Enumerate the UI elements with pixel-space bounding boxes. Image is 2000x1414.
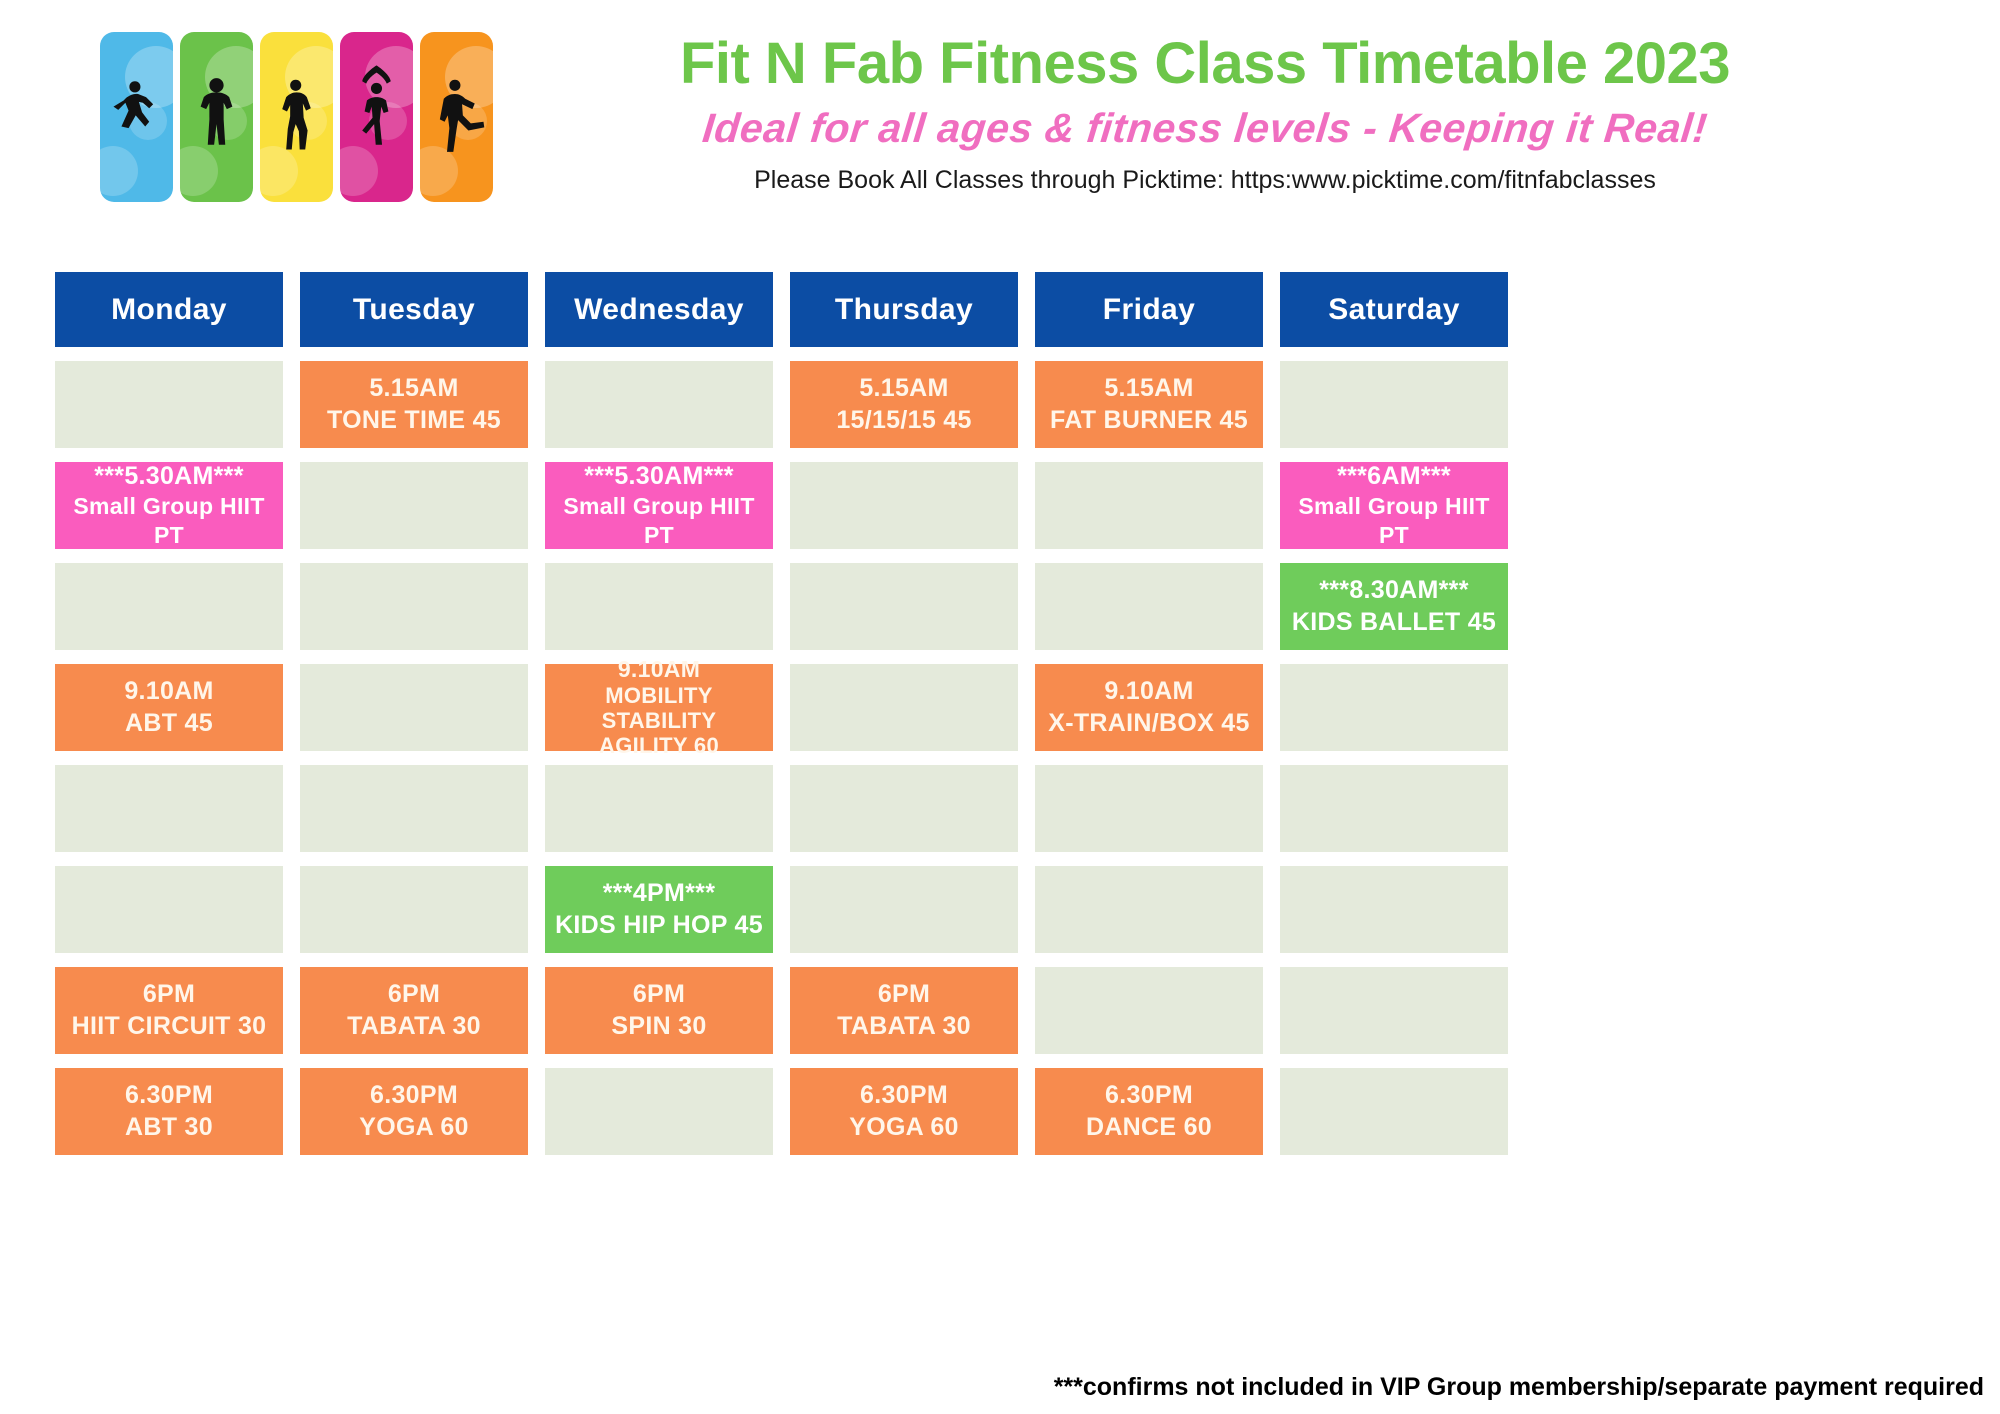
class-name: YOGA 60 [359,1112,469,1143]
class-name: TABATA 30 [347,1011,481,1042]
empty-slot-thursday [790,765,1018,852]
empty-slot-wednesday [545,765,773,852]
class-name: X-TRAIN/BOX 45 [1048,708,1249,739]
empty-slot-saturday [1280,664,1508,751]
class-time: 6.30PM [1105,1080,1193,1111]
day-header-wednesday[interactable]: Wednesday [545,272,773,347]
class-slot-thursday[interactable]: 5.15AM15/15/15 45 [790,361,1018,448]
empty-slot-wednesday [545,1068,773,1155]
class-name: Small Group HIIT PT [1280,492,1508,550]
class-name: SPIN 30 [611,1011,706,1042]
class-time: ***5.30AM*** [584,461,734,492]
class-slot-wednesday[interactable]: ***4PM***KIDS HIP HOP 45 [545,866,773,953]
empty-slot-friday [1035,765,1263,852]
yoga-tree-pose-woman-icon [340,32,413,202]
day-header-saturday[interactable]: Saturday [1280,272,1508,347]
runner-woman-icon [100,32,173,202]
empty-slot-friday [1035,866,1263,953]
class-slot-tuesday[interactable]: 5.15AMTONE TIME 45 [300,361,528,448]
class-slot-friday[interactable]: 5.15AMFAT BURNER 45 [1035,361,1263,448]
class-slot-monday[interactable]: 6PMHIIT CIRCUIT 30 [55,967,283,1054]
weightlifter-man-icon [180,32,253,202]
empty-slot-wednesday [545,361,773,448]
class-time: 5.15AM [859,373,948,404]
empty-slot-tuesday [300,866,528,953]
empty-slot-thursday [790,563,1018,650]
class-name: YOGA 60 [849,1112,959,1143]
timetable-row: 6PMHIIT CIRCUIT 306PMTABATA 306PMSPIN 30… [55,967,1945,1054]
class-slot-wednesday[interactable]: ***5.30AM***Small Group HIIT PT [545,462,773,549]
class-time: 6PM [143,979,195,1010]
day-header-thursday[interactable]: Thursday [790,272,1018,347]
empty-slot-tuesday [300,664,528,751]
page-subtitle: Ideal for all ages & fitness levels - Ke… [418,105,1993,152]
class-time: ***8.30AM*** [1319,575,1469,606]
class-name: FAT BURNER 45 [1050,405,1248,436]
timetable-row: ***8.30AM***KIDS BALLET 45 [55,563,1945,650]
empty-slot-saturday [1280,765,1508,852]
empty-slot-saturday [1280,866,1508,953]
class-slot-friday[interactable]: 9.10AMX-TRAIN/BOX 45 [1035,664,1263,751]
jogger-woman-icon [260,32,333,202]
class-slot-wednesday[interactable]: 6PMSPIN 30 [545,967,773,1054]
class-slot-friday[interactable]: 6.30PMDANCE 60 [1035,1068,1263,1155]
empty-slot-thursday [790,866,1018,953]
timetable-grid: MondayTuesdayWednesdayThursdayFridaySatu… [55,272,1945,1169]
class-name: KIDS HIP HOP 45 [555,910,763,941]
timetable-row: 6.30PMABT 306.30PMYOGA 606.30PMYOGA 606.… [55,1068,1945,1155]
day-header-friday[interactable]: Friday [1035,272,1263,347]
class-name: AGILITY 60 [599,733,719,758]
empty-slot-monday [55,866,283,953]
class-name: KIDS BALLET 45 [1292,607,1496,638]
class-name: ABT 45 [125,708,213,739]
timetable-row [55,765,1945,852]
empty-slot-monday [55,563,283,650]
class-slot-tuesday[interactable]: 6PMTABATA 30 [300,967,528,1054]
empty-slot-friday [1035,967,1263,1054]
class-name: Small Group HIIT PT [55,492,283,550]
empty-slot-saturday [1280,967,1508,1054]
timetable-row: ***5.30AM***Small Group HIIT PT***5.30AM… [55,462,1945,549]
class-name: HIIT CIRCUIT 30 [72,1011,267,1042]
empty-slot-friday [1035,563,1263,650]
class-slot-saturday[interactable]: ***8.30AM***KIDS BALLET 45 [1280,563,1508,650]
class-name: TABATA 30 [837,1011,971,1042]
empty-slot-tuesday [300,563,528,650]
empty-slot-friday [1035,462,1263,549]
class-slot-saturday[interactable]: ***6AM***Small Group HIIT PT [1280,462,1508,549]
class-name: Small Group HIIT PT [545,492,773,550]
title-block: Fit N Fab Fitness Class Timetable 2023 I… [420,34,1990,195]
class-time: 9.10AM [618,656,700,682]
class-time: 6.30PM [860,1080,948,1111]
class-slot-monday[interactable]: 9.10AMABT 45 [55,664,283,751]
class-time: 6PM [388,979,440,1010]
class-time: 9.10AM [1104,676,1193,707]
empty-slot-monday [55,361,283,448]
class-time: 9.10AM [124,676,213,707]
class-slot-monday[interactable]: 6.30PMABT 30 [55,1068,283,1155]
empty-slot-thursday [790,462,1018,549]
class-slot-thursday[interactable]: 6PMTABATA 30 [790,967,1018,1054]
empty-slot-monday [55,765,283,852]
class-slot-wednesday[interactable]: 9.10AMMOBILITY STABILITYAGILITY 60 [545,664,773,751]
timetable-row: 5.15AMTONE TIME 455.15AM15/15/15 455.15A… [55,361,1945,448]
day-header-tuesday[interactable]: Tuesday [300,272,528,347]
footer-note: ***confirms not included in VIP Group me… [1054,1373,1984,1402]
class-slot-tuesday[interactable]: 6.30PMYOGA 60 [300,1068,528,1155]
empty-slot-saturday [1280,1068,1508,1155]
class-time: 6.30PM [125,1080,213,1111]
timetable-row: 9.10AMABT 459.10AMMOBILITY STABILITYAGIL… [55,664,1945,751]
class-time: 6PM [633,979,685,1010]
booking-instructions: Please Book All Classes through Picktime… [420,166,1990,195]
class-time: 5.15AM [369,373,458,404]
class-time: ***6AM*** [1337,461,1451,492]
day-header-row: MondayTuesdayWednesdayThursdayFridaySatu… [55,272,1945,347]
class-name: MOBILITY STABILITY [545,683,773,734]
page-header: Fit N Fab Fitness Class Timetable 2023 I… [0,0,2000,250]
class-time: ***4PM*** [603,878,715,909]
timetable-row: ***4PM***KIDS HIP HOP 45 [55,866,1945,953]
class-name: 15/15/15 45 [836,405,971,436]
empty-slot-wednesday [545,563,773,650]
empty-slot-saturday [1280,361,1508,448]
class-time: ***5.30AM*** [94,461,244,492]
class-time: 6.30PM [370,1080,458,1111]
empty-slot-tuesday [300,462,528,549]
class-name: ABT 30 [125,1112,213,1143]
day-header-monday[interactable]: Monday [55,272,283,347]
empty-slot-thursday [790,664,1018,751]
page-title: Fit N Fab Fitness Class Timetable 2023 [420,34,1990,95]
class-time: 5.15AM [1104,373,1193,404]
class-slot-monday[interactable]: ***5.30AM***Small Group HIIT PT [55,462,283,549]
class-slot-thursday[interactable]: 6.30PMYOGA 60 [790,1068,1018,1155]
class-name: DANCE 60 [1086,1112,1212,1143]
class-name: TONE TIME 45 [327,405,501,436]
empty-slot-tuesday [300,765,528,852]
class-time: 6PM [878,979,930,1010]
